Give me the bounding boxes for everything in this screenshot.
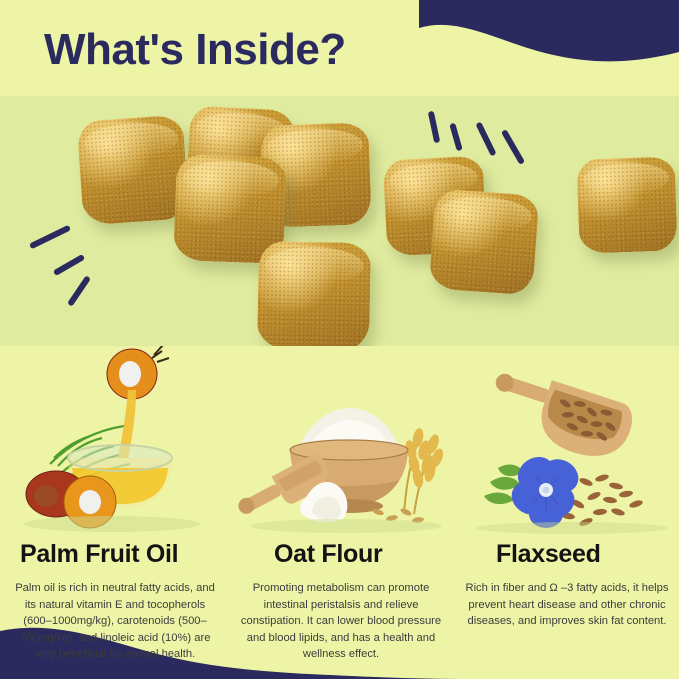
ingredient-card-flaxseed: Flaxseed Rich in fiber and Ω –3 fatty ac… [454,346,679,679]
kibble-cube [429,188,540,295]
palm-fruit-oil-illustration [2,346,228,536]
accent-dash [428,111,441,144]
oat-flour-illustration [228,346,454,536]
page-title: What's Inside? [44,28,346,72]
accent-dash [67,275,91,307]
accent-dash [501,129,525,165]
accent-dash [29,225,71,250]
ingredient-title: Palm Fruit Oil [20,540,178,569]
ingredient-card-oat-flour: Oat Flour Promoting metabolism can promo… [228,346,454,679]
ingredient-description: Rich in fiber and Ω –3 fatty acids, it h… [464,580,670,630]
hero-product-photo [0,96,679,346]
kibble-cube [576,156,677,253]
accent-dash [475,122,496,157]
flaxseed-illustration [454,346,679,536]
decorative-wave-top-right [419,0,679,90]
accent-dash [53,254,85,276]
ingredient-description: Promoting metabolism can promote intesti… [238,580,444,663]
kibble-cube [77,114,190,225]
ingredient-card-palm-fruit-oil: Palm Fruit Oil Palm oil is rich in neutr… [2,346,228,679]
accent-dash [449,123,462,152]
ingredient-description: Palm oil is rich in neutral fatty acids,… [12,580,218,663]
ingredient-title: Oat Flour [274,540,382,569]
ingredients-row: Palm Fruit Oil Palm oil is rich in neutr… [0,346,679,679]
infographic-poster: What's Inside? [0,0,679,679]
kibble-cube [257,241,371,346]
ingredient-title: Flaxseed [496,540,601,569]
